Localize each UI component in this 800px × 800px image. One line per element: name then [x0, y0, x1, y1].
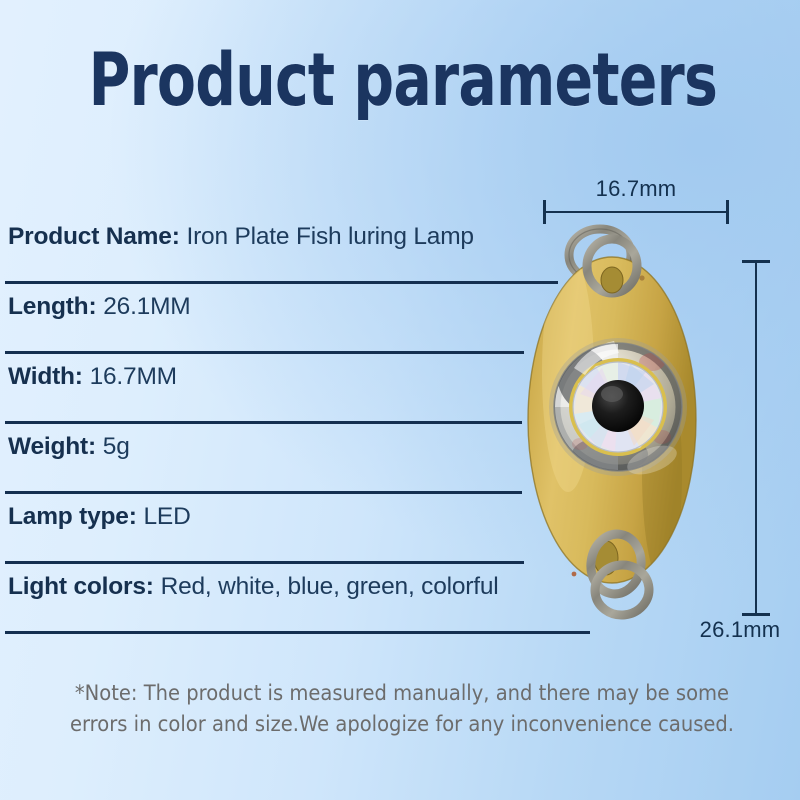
spec-value: Iron Plate Fish luring Lamp — [186, 223, 473, 250]
disclaimer-note: *Note: The product is measured manually,… — [45, 678, 759, 740]
spec-row-width: Width: 16.7MM — [0, 354, 620, 424]
spec-value: LED — [144, 503, 191, 530]
spec-text: Product Name: Iron Plate Fish luring Lam… — [8, 222, 474, 252]
spec-label: Product Name: — [8, 223, 180, 250]
spec-text: Lamp type: LED — [8, 502, 191, 532]
width-dimension-line — [543, 211, 729, 213]
spec-row-lamp-type: Lamp type: LED — [0, 494, 620, 564]
page-title: Product parameters — [89, 44, 717, 118]
spec-value: 16.7MM — [90, 363, 177, 390]
spec-text: Width: 16.7MM — [8, 362, 177, 392]
page-title-container: Product parameters — [0, 44, 800, 118]
spec-row-weight: Weight: 5g — [0, 424, 620, 494]
height-dimension-line — [755, 260, 757, 616]
spec-text: Light colors: Red, white, blue, green, c… — [8, 572, 499, 602]
spec-row-product-name: Product Name: Iron Plate Fish luring Lam… — [0, 214, 620, 284]
spec-label: Lamp type: — [8, 503, 137, 530]
spec-row-light-colors: Light colors: Red, white, blue, green, c… — [0, 564, 620, 634]
spec-value: 5g — [103, 433, 130, 460]
spec-label: Length: — [8, 293, 96, 320]
spec-text: Weight: 5g — [8, 432, 130, 462]
spec-value: Red, white, blue, green, colorful — [161, 573, 499, 600]
spec-divider — [5, 631, 590, 634]
spec-label: Light colors: — [8, 573, 154, 600]
spec-label: Width: — [8, 363, 83, 390]
spec-label: Weight: — [8, 433, 96, 460]
width-dimension-label: 16.7mm — [543, 176, 729, 202]
product-parameters-infographic: Product parameters 16.7mm 26.1mm — [0, 0, 800, 800]
spec-text: Length: 26.1MM — [8, 292, 191, 322]
spec-value: 26.1MM — [103, 293, 190, 320]
spec-table: Product Name: Iron Plate Fish luring Lam… — [0, 214, 620, 634]
spec-row-length: Length: 26.1MM — [0, 284, 620, 354]
